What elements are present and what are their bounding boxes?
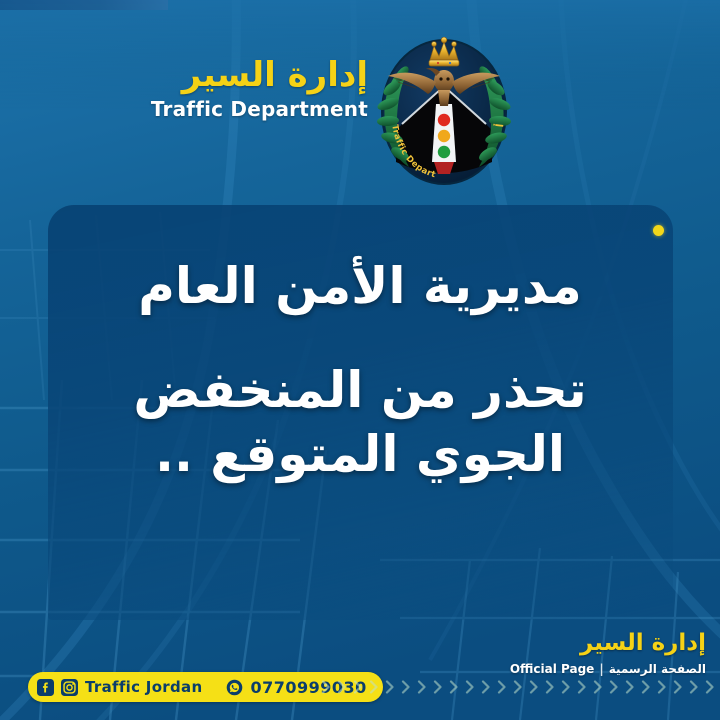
traffic-department-emblem-icon: Traffic Department إدارة السير: [368, 26, 520, 188]
chevron-right-icon: [430, 679, 446, 695]
chevron-right-icon: [574, 679, 590, 695]
chevron-right-icon: [398, 679, 414, 695]
chevron-strip: [318, 676, 718, 698]
headline-line-2: تحذر من المنخفض الجوي المتوقع ..: [60, 358, 660, 486]
footer-brand: إدارة السير الصفحة الرسمية|Official Page: [510, 632, 706, 675]
chevron-right-icon: [510, 679, 526, 695]
chevron-right-icon: [654, 679, 670, 695]
chevron-right-icon: [590, 679, 606, 695]
chevron-right-icon: [462, 679, 478, 695]
headline-block: مديرية الأمن العام تحذر من المنخفض الجوي…: [60, 255, 660, 486]
facebook-icon[interactable]: [37, 679, 54, 696]
window-titlebar-artifact: [0, 0, 168, 10]
chevron-right-icon: [606, 679, 622, 695]
chevron-right-icon: [686, 679, 702, 695]
chevron-right-icon: [366, 679, 382, 695]
chevron-right-icon: [318, 679, 334, 695]
footer-official-english: Official Page: [510, 662, 595, 676]
chevron-right-icon: [446, 679, 462, 695]
social-handle: Traffic Jordan: [85, 678, 202, 696]
chevron-right-icon: [526, 679, 542, 695]
chevron-right-icon: [334, 679, 350, 695]
instagram-icon[interactable]: [61, 679, 78, 696]
footer-official-line: الصفحة الرسمية|Official Page: [510, 663, 706, 675]
chevron-right-icon: [542, 679, 558, 695]
chevron-right-icon: [350, 679, 366, 695]
footer-official-arabic: الصفحة الرسمية: [609, 662, 706, 676]
footer-separator: |: [594, 662, 608, 676]
chevron-right-icon: [670, 679, 686, 695]
headline-line-2b: الجوي المتوقع ..: [60, 422, 660, 486]
chevron-right-icon: [414, 679, 430, 695]
header-brand-arabic: إدارة السير: [151, 58, 368, 92]
chevron-right-icon: [382, 679, 398, 695]
header: إدارة السير Traffic Department: [0, 0, 720, 200]
headline-line-1: مديرية الأمن العام: [60, 255, 660, 318]
chevron-right-icon: [622, 679, 638, 695]
header-brand-english: Traffic Department: [151, 99, 368, 119]
chevron-right-icon: [702, 679, 718, 695]
accent-dot-icon: [653, 225, 664, 236]
poster-canvas: إدارة السير Traffic Department: [0, 0, 720, 720]
footer-brand-arabic: إدارة السير: [510, 632, 706, 655]
chevron-right-icon: [558, 679, 574, 695]
chevron-right-icon: [638, 679, 654, 695]
chevron-right-icon: [494, 679, 510, 695]
chevron-right-icon: [478, 679, 494, 695]
whatsapp-icon[interactable]: [226, 679, 243, 696]
headline-line-2a: تحذر من المنخفض: [60, 358, 660, 422]
header-brand: إدارة السير Traffic Department: [151, 58, 368, 119]
footer: إدارة السير الصفحة الرسمية|Official Page: [0, 620, 720, 720]
